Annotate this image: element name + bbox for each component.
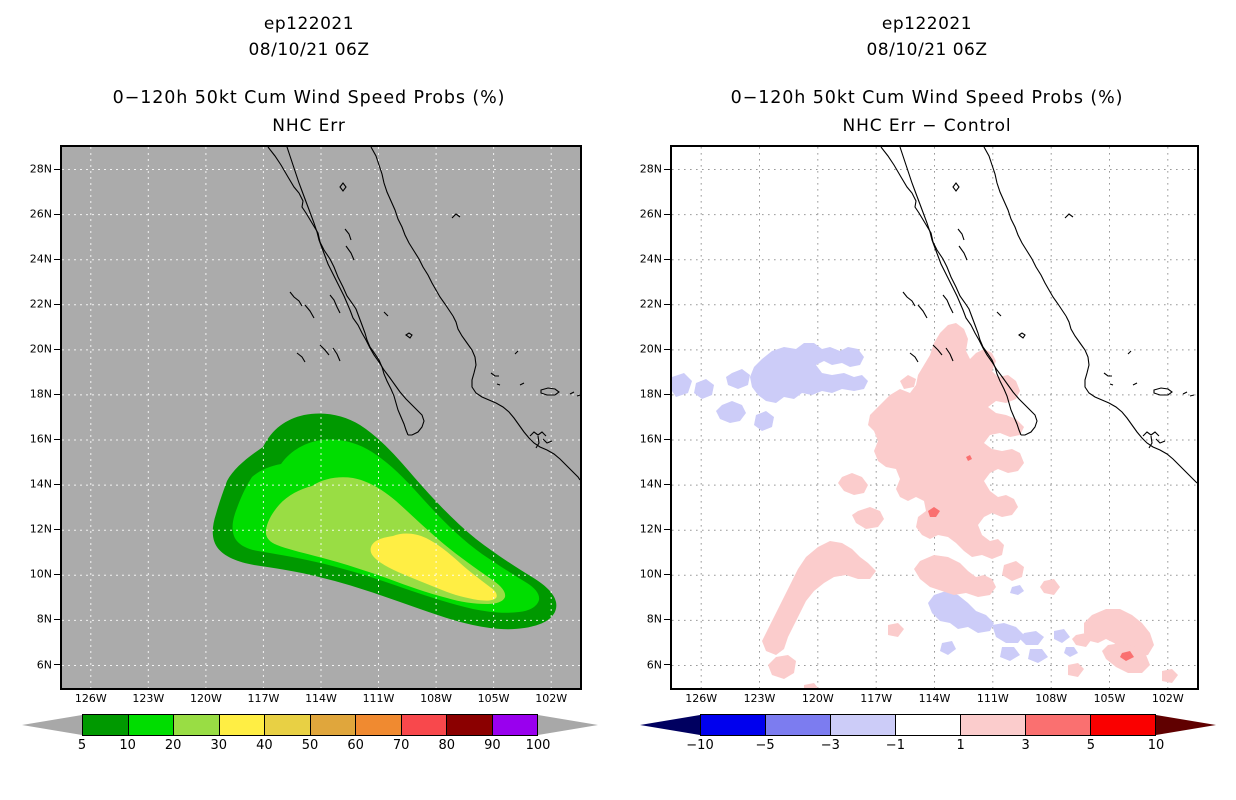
colorbar-high-cap [538,714,598,736]
colorbar-swatch [128,714,174,736]
colorbar-swatch [1090,714,1156,736]
colorbar-swatch [401,714,447,736]
colorbar-swatch [1025,714,1090,736]
colorbar-swatch [82,714,128,736]
colorbar-swatch [492,714,539,736]
right-title: 0−120h 50kt Cum Wind Speed Probs (%) [618,88,1236,108]
figure: ep122021 08/10/21 06Z 0−120h 50kt Cum Wi… [0,0,1236,800]
probability-colorbar: 5 10 20 30 40 50 60 70 80 90 100 [40,714,580,760]
colorbar-swatch [830,714,895,736]
colorbar-swatch [173,714,219,736]
colorbar-swatch [895,714,960,736]
colorbar-low-cap [640,714,700,736]
difference-colorbar: −10 −5 −3 −1 1 3 5 10 [658,714,1198,760]
colorbar-swatch [960,714,1025,736]
right-storm-id: ep122021 [618,14,1236,34]
colorbar-swatch [355,714,401,736]
right-map-canvas [672,147,1197,688]
colorbar-swatch [700,714,765,736]
panel-nhc-err-minus-control: ep122021 08/10/21 06Z 0−120h 50kt Cum Wi… [618,0,1236,800]
colorbar-swatches [82,714,538,736]
colorbar-swatch [219,714,265,736]
right-subtitle: NHC Err − Control [618,116,1236,136]
colorbar-tick-labels: −10 −5 −3 −1 1 3 5 10 [658,738,1198,758]
colorbar-high-cap [1156,714,1216,736]
colorbar-swatch [446,714,492,736]
right-datetime: 08/10/21 06Z [618,40,1236,60]
left-map-canvas [62,147,580,688]
right-map [670,145,1199,690]
left-subtitle: NHC Err [0,116,618,136]
colorbar-swatch [765,714,830,736]
left-title: 0−120h 50kt Cum Wind Speed Probs (%) [0,88,618,108]
left-datetime: 08/10/21 06Z [0,40,618,60]
colorbar-tick-labels: 5 10 20 30 40 50 60 70 80 90 100 [40,738,580,758]
colorbar-swatch [310,714,356,736]
colorbar-low-cap [22,714,82,736]
left-map [60,145,582,690]
left-storm-id: ep122021 [0,14,618,34]
colorbar-swatch [264,714,310,736]
colorbar-swatches [700,714,1156,736]
panel-nhc-err: ep122021 08/10/21 06Z 0−120h 50kt Cum Wi… [0,0,618,800]
